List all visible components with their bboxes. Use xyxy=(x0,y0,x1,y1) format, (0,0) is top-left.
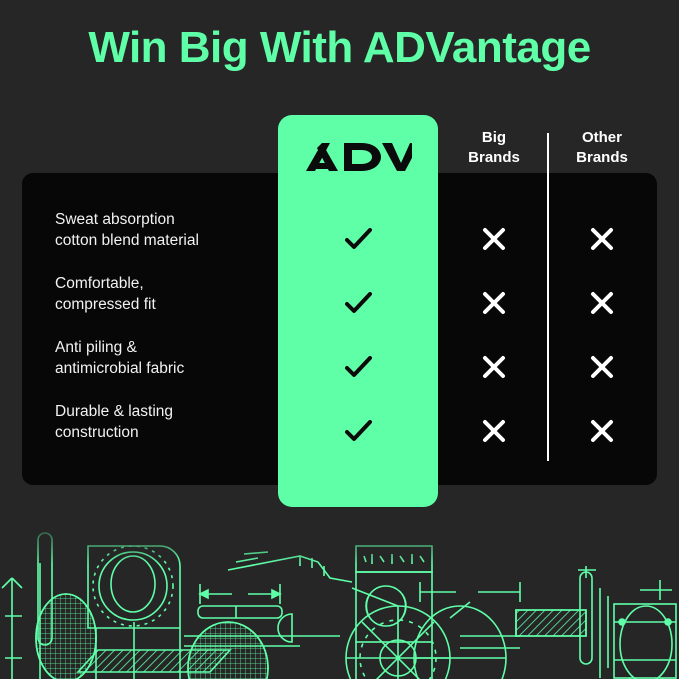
feature-label: Anti piling & antimicrobial fabric xyxy=(55,337,270,379)
adv-logo-icon xyxy=(278,141,438,173)
cross-icon xyxy=(474,347,514,387)
table-row: Durable & lasting construction xyxy=(0,401,679,465)
table-row: Comfortable, compressed fit xyxy=(0,273,679,337)
cross-icon xyxy=(582,283,622,323)
cross-icon xyxy=(582,347,622,387)
blueprint-illustration xyxy=(0,518,679,679)
feature-label-line1: Comfortable, xyxy=(55,273,270,294)
feature-label-line2: cotton blend material xyxy=(55,230,270,251)
feature-label: Durable & lasting construction xyxy=(55,401,270,443)
other-brands-line1: Other xyxy=(542,128,662,148)
big-brands-line2: Brands xyxy=(434,148,554,168)
feature-label-line2: antimicrobial fabric xyxy=(55,358,270,379)
check-icon xyxy=(338,283,378,323)
feature-label-line2: construction xyxy=(55,422,270,443)
cross-icon xyxy=(582,411,622,451)
cross-icon xyxy=(582,219,622,259)
cross-icon xyxy=(474,219,514,259)
feature-label-line2: compressed fit xyxy=(55,294,270,315)
feature-label-line1: Durable & lasting xyxy=(55,401,270,422)
comparison-table: Big Brands Other Brands Sweat absorption… xyxy=(0,0,679,520)
feature-label-line1: Anti piling & xyxy=(55,337,270,358)
check-icon xyxy=(338,347,378,387)
feature-label: Sweat absorption cotton blend material xyxy=(55,209,270,251)
feature-rows: Sweat absorption cotton blend material xyxy=(0,173,679,485)
check-icon xyxy=(338,219,378,259)
other-brands-line2: Brands xyxy=(542,148,662,168)
column-header-big-brands: Big Brands xyxy=(434,128,554,168)
feature-label-line1: Sweat absorption xyxy=(55,209,270,230)
column-header-other-brands: Other Brands xyxy=(542,128,662,168)
big-brands-line1: Big xyxy=(434,128,554,148)
check-icon xyxy=(338,411,378,451)
feature-label: Comfortable, compressed fit xyxy=(55,273,270,315)
table-row: Sweat absorption cotton blend material xyxy=(0,209,679,273)
cross-icon xyxy=(474,283,514,323)
cross-icon xyxy=(474,411,514,451)
table-row: Anti piling & antimicrobial fabric xyxy=(0,337,679,401)
